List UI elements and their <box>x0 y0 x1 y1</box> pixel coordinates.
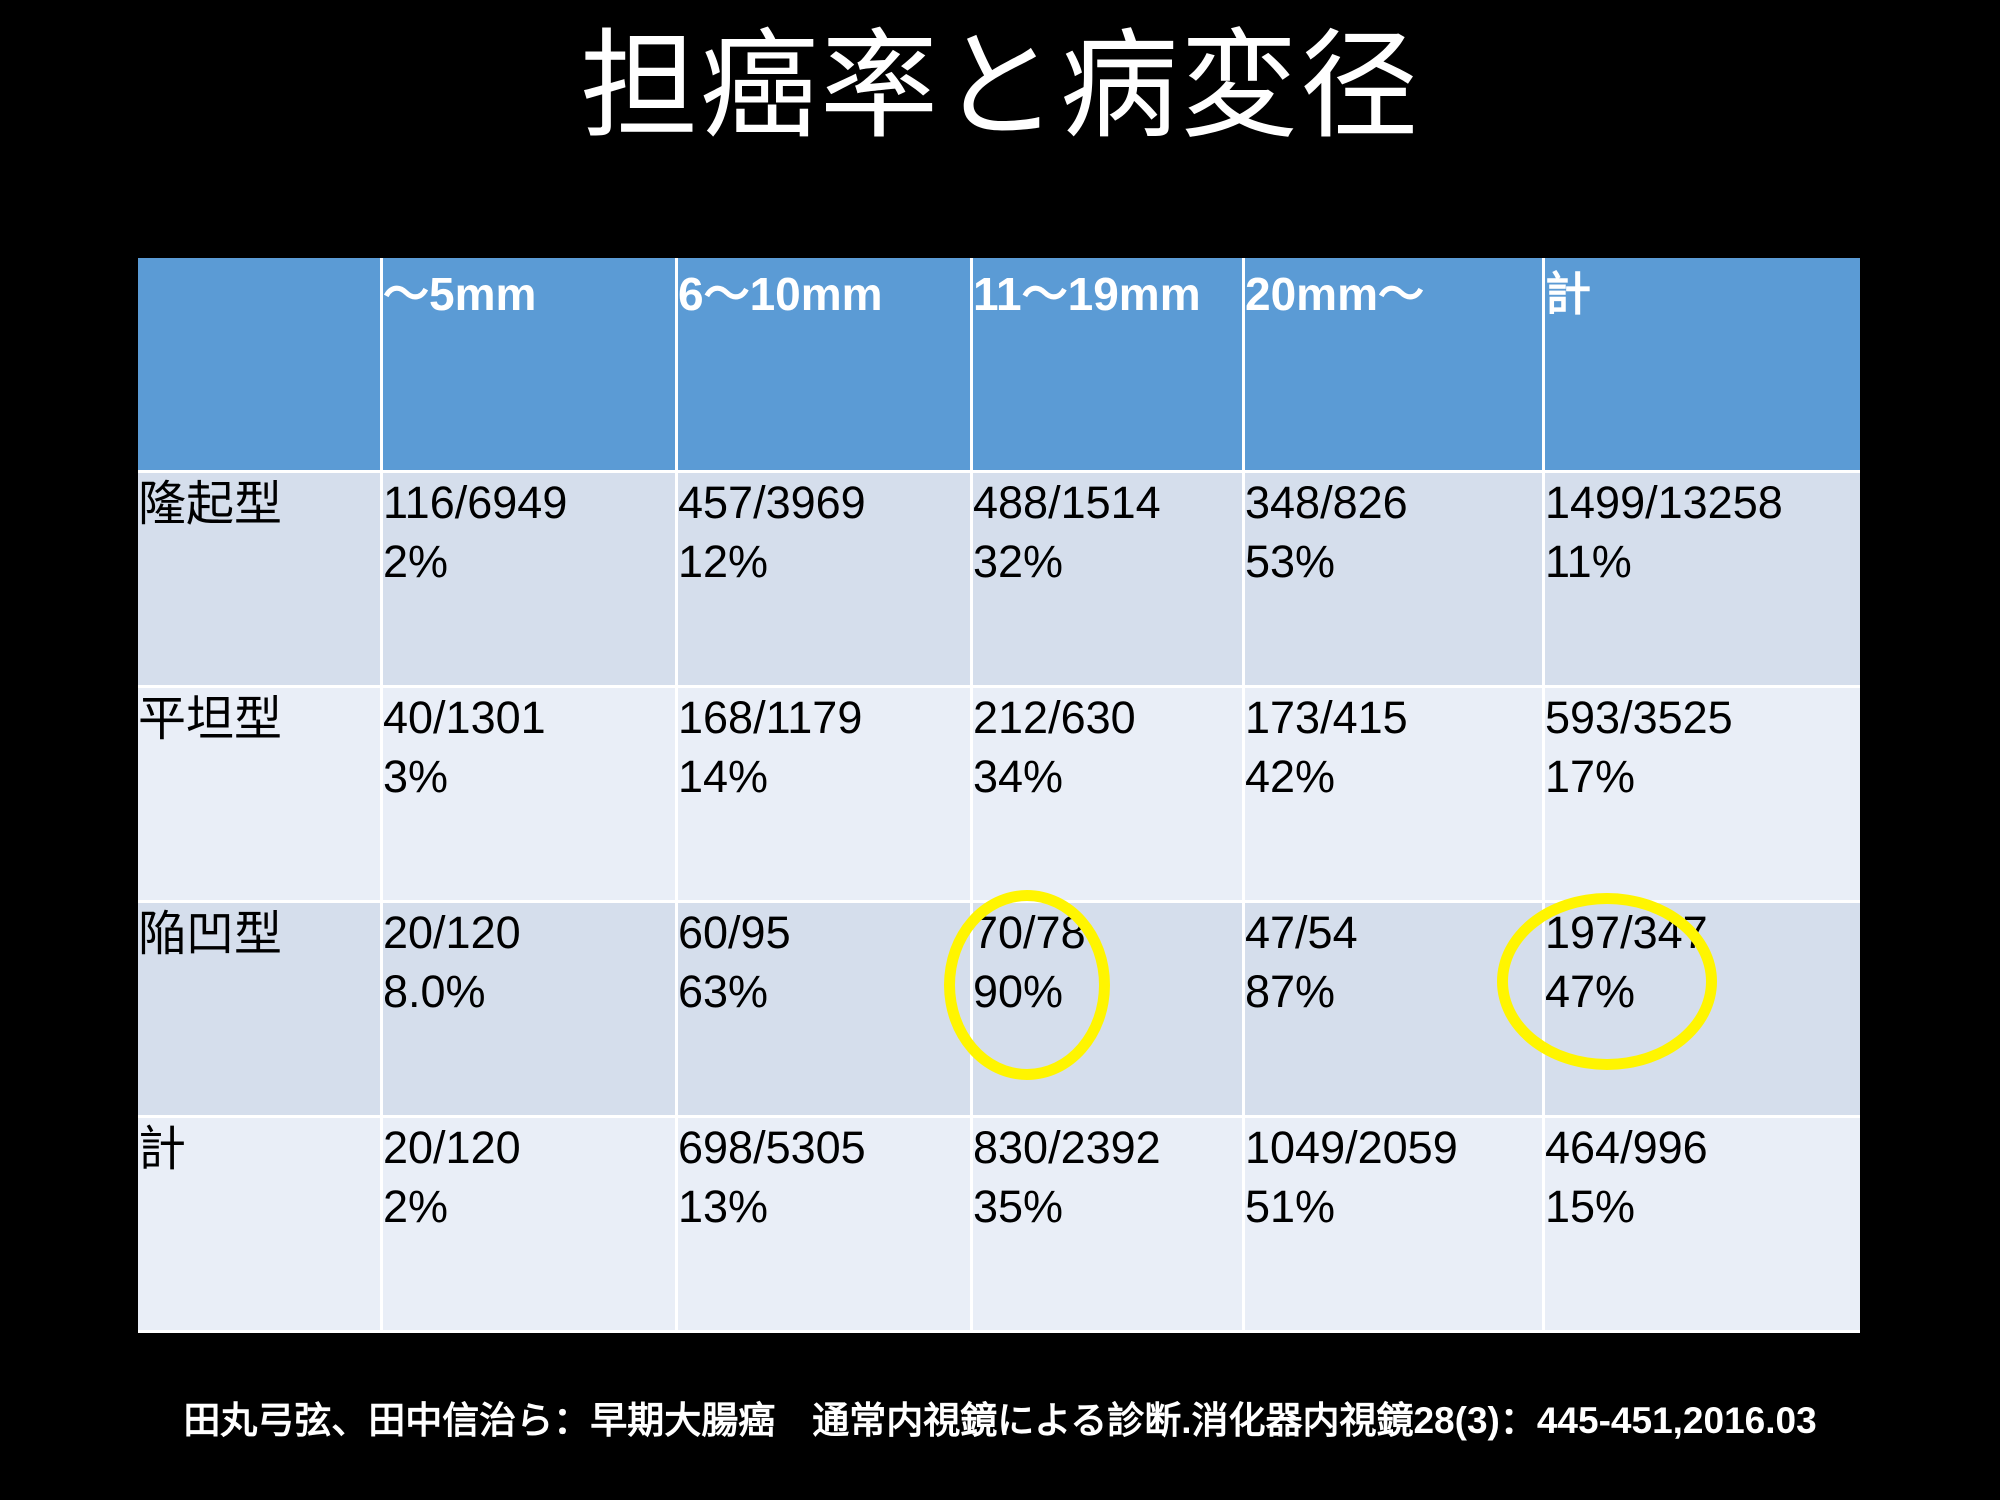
column-header-6-10mm: 6〜10mm <box>678 258 973 473</box>
cell-ratio: 1499/13258 <box>1545 473 1860 532</box>
cell-percent: 53% <box>1245 532 1542 591</box>
row-header-protruded: 隆起型 <box>138 473 383 688</box>
cell-ratio: 197/347 <box>1545 903 1860 962</box>
cell-percent: 8.0% <box>383 962 675 1021</box>
cell-ratio: 464/996 <box>1545 1118 1860 1177</box>
cell-depressed-total: 197/347 47% <box>1545 903 1860 1118</box>
table-row: 陥凹型 20/120 8.0% 60/95 63% 70/78 90% 47/ <box>138 903 1860 1118</box>
table-body: 隆起型 116/6949 2% 457/3969 12% 488/1514 32… <box>138 473 1860 1333</box>
cell-ratio: 457/3969 <box>678 473 970 532</box>
cell-flat-11-19mm: 212/630 34% <box>973 688 1245 903</box>
data-table-container: 〜5mm 6〜10mm 11〜19mm 20mm〜 計 隆起型 116/6949… <box>138 258 1860 1333</box>
cell-ratio: 348/826 <box>1245 473 1542 532</box>
cell-flat-upto5mm: 40/1301 3% <box>383 688 678 903</box>
cell-ratio: 212/630 <box>973 688 1242 747</box>
cell-ratio: 698/5305 <box>678 1118 970 1177</box>
cell-percent: 51% <box>1245 1177 1542 1236</box>
cell-percent: 12% <box>678 532 970 591</box>
cell-percent: 11% <box>1545 532 1860 591</box>
cell-protruded-6-10mm: 457/3969 12% <box>678 473 973 688</box>
column-header-11-19mm: 11〜19mm <box>973 258 1245 473</box>
cell-percent: 3% <box>383 747 675 806</box>
cell-ratio: 168/1179 <box>678 688 970 747</box>
row-header-flat: 平坦型 <box>138 688 383 903</box>
cell-percent: 2% <box>383 1177 675 1236</box>
cell-ratio: 47/54 <box>1245 903 1542 962</box>
cell-ratio: 20/120 <box>383 903 675 962</box>
slide-canvas: 担癌率と病変径 〜5mm 6〜10mm 11〜19mm 20mm〜 計 隆起型 <box>0 0 2000 1500</box>
cancer-rate-by-lesion-size-table: 〜5mm 6〜10mm 11〜19mm 20mm〜 計 隆起型 116/6949… <box>138 258 1860 1333</box>
table-header: 〜5mm 6〜10mm 11〜19mm 20mm〜 計 <box>138 258 1860 473</box>
cell-percent: 47% <box>1545 962 1860 1021</box>
row-header-total: 計 <box>138 1118 383 1333</box>
cell-total-20mm-plus: 1049/2059 51% <box>1245 1118 1545 1333</box>
cell-flat-6-10mm: 168/1179 14% <box>678 688 973 903</box>
cell-ratio: 60/95 <box>678 903 970 962</box>
column-header-20mm-plus: 20mm〜 <box>1245 258 1545 473</box>
row-header-depressed: 陥凹型 <box>138 903 383 1118</box>
table-corner-cell <box>138 258 383 473</box>
cell-depressed-6-10mm: 60/95 63% <box>678 903 973 1118</box>
cell-percent: 34% <box>973 747 1242 806</box>
page-title: 担癌率と病変径 <box>0 18 2000 157</box>
cell-flat-total: 593/3525 17% <box>1545 688 1860 903</box>
cell-depressed-20mm-plus: 47/54 87% <box>1245 903 1545 1118</box>
cell-ratio: 116/6949 <box>383 473 675 532</box>
cell-ratio: 40/1301 <box>383 688 675 747</box>
cell-percent: 17% <box>1545 747 1860 806</box>
cell-ratio: 20/120 <box>383 1118 675 1177</box>
table-header-row: 〜5mm 6〜10mm 11〜19mm 20mm〜 計 <box>138 258 1860 473</box>
cell-percent: 42% <box>1245 747 1542 806</box>
cell-flat-20mm-plus: 173/415 42% <box>1245 688 1545 903</box>
table-row: 隆起型 116/6949 2% 457/3969 12% 488/1514 32… <box>138 473 1860 688</box>
cell-percent: 15% <box>1545 1177 1860 1236</box>
cell-depressed-upto5mm: 20/120 8.0% <box>383 903 678 1118</box>
cell-ratio: 488/1514 <box>973 473 1242 532</box>
column-header-total: 計 <box>1545 258 1860 473</box>
table-row: 平坦型 40/1301 3% 168/1179 14% 212/630 34% <box>138 688 1860 903</box>
cell-protruded-upto5mm: 116/6949 2% <box>383 473 678 688</box>
cell-ratio: 830/2392 <box>973 1118 1242 1177</box>
cell-ratio: 173/415 <box>1245 688 1542 747</box>
cell-ratio: 70/78 <box>973 903 1242 962</box>
cell-percent: 87% <box>1245 962 1542 1021</box>
cell-ratio: 593/3525 <box>1545 688 1860 747</box>
cell-total-6-10mm: 698/5305 13% <box>678 1118 973 1333</box>
column-header-upto-5mm: 〜5mm <box>383 258 678 473</box>
cell-percent: 90% <box>973 962 1242 1021</box>
table-row: 計 20/120 2% 698/5305 13% 830/2392 35% 1 <box>138 1118 1860 1333</box>
cell-ratio: 1049/2059 <box>1245 1118 1542 1177</box>
cell-protruded-20mm-plus: 348/826 53% <box>1245 473 1545 688</box>
source-citation: 田丸弓弦、田中信治ら：早期大腸癌 通常内視鏡による診断.消化器内視鏡28(3)：… <box>0 1390 2000 1444</box>
cell-percent: 32% <box>973 532 1242 591</box>
cell-total-upto5mm: 20/120 2% <box>383 1118 678 1333</box>
cell-total-total: 464/996 15% <box>1545 1118 1860 1333</box>
cell-percent: 2% <box>383 532 675 591</box>
cell-percent: 13% <box>678 1177 970 1236</box>
cell-protruded-total: 1499/13258 11% <box>1545 473 1860 688</box>
cell-percent: 14% <box>678 747 970 806</box>
cell-percent: 63% <box>678 962 970 1021</box>
cell-percent: 35% <box>973 1177 1242 1236</box>
cell-depressed-11-19mm: 70/78 90% <box>973 903 1245 1118</box>
cell-protruded-11-19mm: 488/1514 32% <box>973 473 1245 688</box>
cell-total-11-19mm: 830/2392 35% <box>973 1118 1245 1333</box>
